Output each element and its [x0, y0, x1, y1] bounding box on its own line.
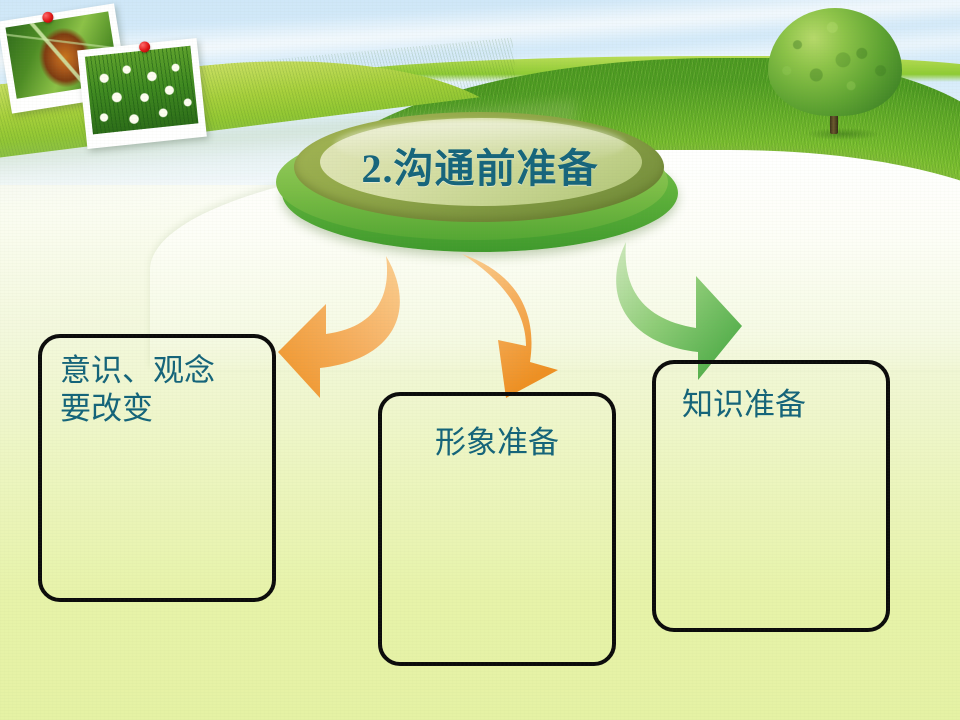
arrow-middle-icon [440, 248, 600, 398]
textbox-awareness[interactable]: 意识、观念 要改变 [38, 334, 276, 602]
textbox-knowledge[interactable]: 知识准备 [652, 360, 890, 632]
photo-daisies [77, 38, 207, 149]
arrow-left-icon [268, 248, 458, 408]
title-plate: 2.沟通前准备 [276, 106, 684, 258]
textbox-awareness-label: 意识、观念 要改变 [60, 352, 260, 428]
photo-daisies-image [85, 46, 199, 135]
textbox-image-label: 形象准备 [394, 424, 600, 462]
tree-crown [768, 8, 902, 116]
tree-icon [760, 8, 910, 160]
textbox-knowledge-label: 知识准备 [682, 386, 874, 424]
textbox-image[interactable]: 形象准备 [378, 392, 616, 666]
slide: 2.沟通前准备 [0, 0, 960, 720]
page-title: 2.沟通前准备 [276, 136, 684, 194]
tree-shadow [806, 128, 880, 140]
